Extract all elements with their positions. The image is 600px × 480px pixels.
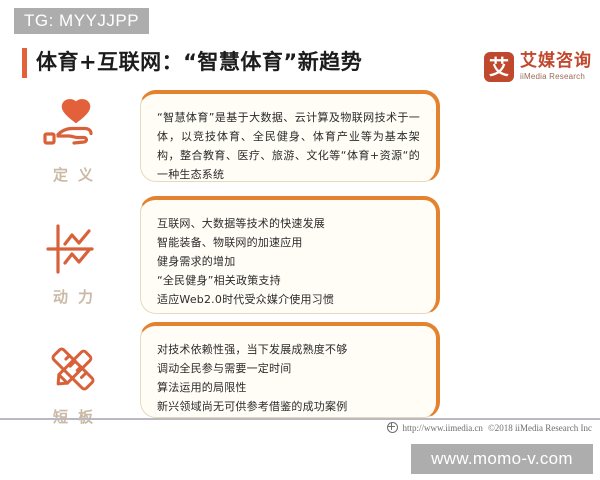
page-title: 体育+互联网：“智慧体育”新趋势	[36, 44, 362, 80]
card-line: 健身需求的增加	[157, 252, 420, 271]
card-line: “智慧体育”是基于大数据、云计算及物联网技术于一体，以竞技体育、全民健身、体育产…	[157, 108, 420, 184]
brand-logo: 艾 艾媒咨询 iiMedia Research	[484, 52, 592, 82]
bottom-watermark: www.momo-v.com	[411, 444, 593, 474]
content-card-shortcomings: 对技术依赖性强，当下发展成熟度不够 调动全民参与需要一定时间 算法运用的局限性 …	[140, 322, 440, 418]
section-marker-definition: 定义	[18, 96, 128, 185]
card-line: 智能装备、物联网的加速应用	[157, 233, 420, 252]
brand-name-cn: 艾媒咨询	[520, 53, 592, 70]
card-line: 新兴领域尚无可供参考借鉴的成功案例	[157, 397, 420, 416]
top-watermark: TG: MYYJJPP	[14, 8, 149, 34]
section-label: 动力	[18, 286, 128, 307]
trend-chart-icon	[18, 218, 128, 280]
card-line: 适应Web2.0时代受众媒介使用习惯	[157, 290, 420, 309]
section-label: 短板	[18, 406, 128, 427]
footer: http://www.iimedia.cn ©2018 iiMedia Rese…	[387, 422, 592, 433]
card-line: 对技术依赖性强，当下发展成熟度不够	[157, 340, 420, 359]
brand-wordmark: 艾媒咨询 iiMedia Research	[520, 53, 592, 81]
footer-url: http://www.iimedia.cn	[403, 423, 483, 433]
globe-icon	[387, 422, 398, 433]
brand-mark-icon: 艾	[484, 52, 514, 82]
section-marker-shortcomings: 短板	[18, 338, 128, 427]
section-label: 定义	[18, 164, 128, 185]
content-card-motivation: 互联网、大数据等技术的快速发展 智能装备、物联网的加速应用 健身需求的增加 “全…	[140, 196, 440, 314]
hand-heart-icon	[18, 96, 128, 158]
card-line: 算法运用的局限性	[157, 378, 420, 397]
content-card-definition: “智慧体育”是基于大数据、云计算及物联网技术于一体，以竞技体育、全民健身、体育产…	[140, 90, 440, 182]
title-accent-bar	[22, 48, 27, 78]
slide-canvas: TG: MYYJJPP 体育+互联网：“智慧体育”新趋势 艾 艾媒咨询 iiMe…	[0, 0, 600, 480]
card-line: 调动全民参与需要一定时间	[157, 359, 420, 378]
footer-divider	[0, 418, 600, 420]
card-line: “全民健身”相关政策支持	[157, 271, 420, 290]
brand-name-en: iiMedia Research	[520, 73, 592, 81]
section-marker-motivation: 动力	[18, 218, 128, 307]
card-line: 互联网、大数据等技术的快速发展	[157, 214, 420, 233]
footer-copyright: ©2018 iiMedia Research Inc	[488, 423, 592, 433]
ruler-pencil-icon	[18, 338, 128, 400]
